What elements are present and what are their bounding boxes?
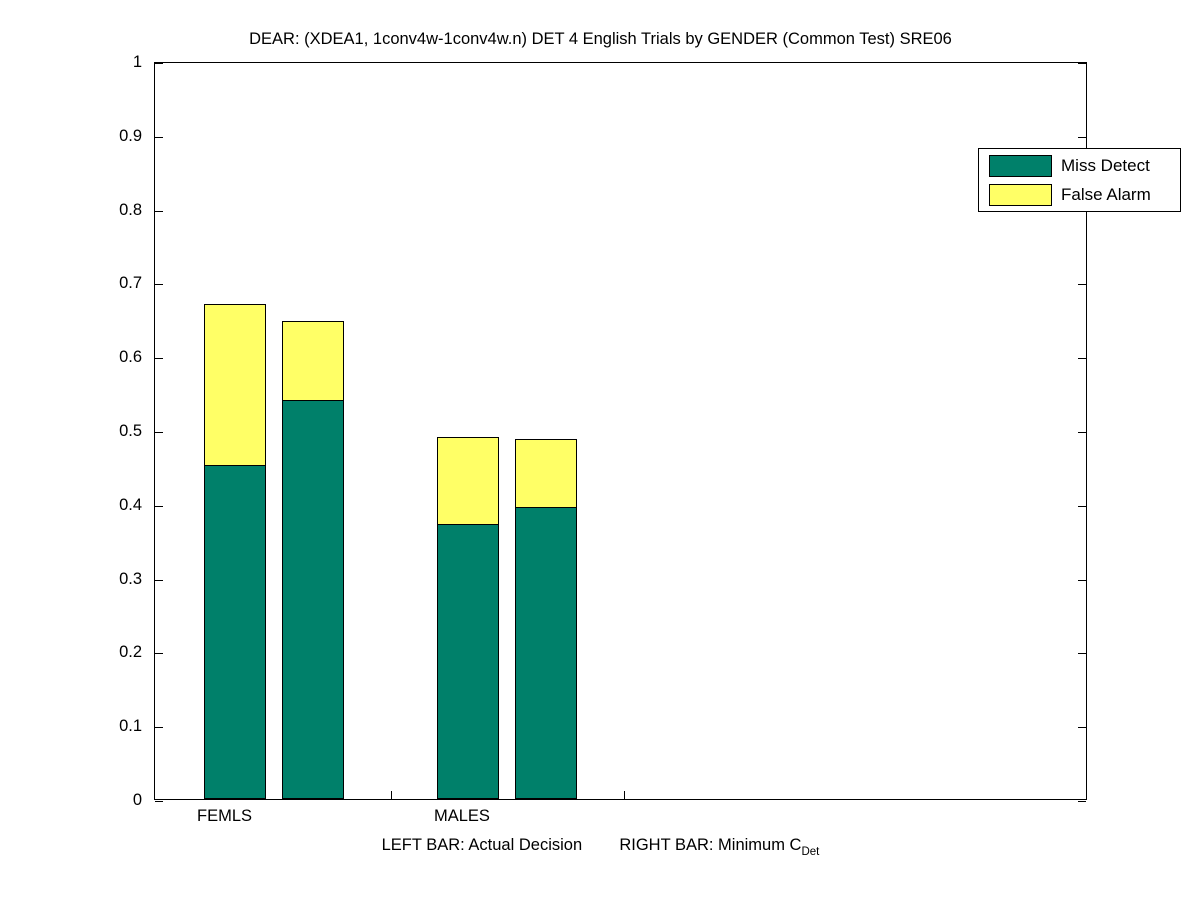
y-tick-1 — [155, 63, 163, 64]
y-tick-right-0.9 — [1078, 137, 1086, 138]
y-tick-label-0.1: 0.1 — [119, 718, 142, 734]
bar-segment-false-alarm[interactable] — [515, 439, 577, 508]
y-tick-right-0.6 — [1078, 358, 1086, 359]
y-tick-0.1 — [155, 727, 163, 728]
bar-segment-false-alarm[interactable] — [437, 437, 499, 524]
legend-label-false-alarm: False Alarm — [1061, 183, 1151, 206]
footer-left-bar-text: LEFT BAR: Actual Decision — [382, 836, 583, 854]
legend-swatch-false-alarm — [989, 184, 1052, 206]
y-tick-0.5 — [155, 432, 163, 433]
legend-label-miss-detect: Miss Detect — [1061, 154, 1150, 177]
legend-swatch-miss-detect — [989, 155, 1052, 177]
y-tick-0.8 — [155, 211, 163, 212]
y-tick-label-0.8: 0.8 — [119, 202, 142, 218]
plot-area: Miss Detect False Alarm — [154, 62, 1087, 800]
bar-segment-miss-detect[interactable] — [437, 523, 499, 799]
bar-segment-miss-detect[interactable] — [204, 465, 266, 799]
y-tick-0.2 — [155, 653, 163, 654]
y-tick-0.3 — [155, 580, 163, 581]
y-tick-label-0.5: 0.5 — [119, 423, 142, 439]
y-tick-0 — [155, 801, 163, 802]
y-tick-0.4 — [155, 506, 163, 507]
y-tick-right-0.1 — [1078, 727, 1086, 728]
y-tick-label-0.2: 0.2 — [119, 644, 142, 660]
y-tick-0.9 — [155, 137, 163, 138]
y-tick-right-0.5 — [1078, 432, 1086, 433]
y-tick-right-0.4 — [1078, 506, 1086, 507]
y-tick-label-0.7: 0.7 — [119, 275, 142, 291]
y-tick-right-1 — [1078, 63, 1086, 64]
y-tick-label-1: 1 — [133, 54, 142, 70]
y-tick-0.6 — [155, 358, 163, 359]
bar-femls-minimum[interactable] — [282, 321, 344, 799]
y-tick-right-0.2 — [1078, 653, 1086, 654]
bar-segment-false-alarm[interactable] — [282, 321, 344, 401]
y-tick-label-0.4: 0.4 — [119, 497, 142, 513]
y-tick-label-0.6: 0.6 — [119, 349, 142, 365]
legend: Miss Detect False Alarm — [978, 148, 1181, 212]
y-tick-right-0 — [1078, 801, 1086, 802]
legend-item-miss-detect[interactable]: Miss Detect — [979, 151, 1180, 180]
y-tick-0.7 — [155, 284, 163, 285]
bar-segment-miss-detect[interactable] — [282, 399, 344, 799]
bar-segment-false-alarm[interactable] — [204, 304, 266, 466]
x-tick-label-males: MALES — [434, 806, 490, 826]
x-tick-label-femls: FEMLS — [197, 806, 252, 826]
x-tick-0 — [391, 791, 392, 799]
figure-canvas: DEAR: (XDEA1, 1conv4w-1conv4w.n) DET 4 E… — [0, 0, 1201, 900]
footer-right-bar-text: RIGHT BAR: Minimum C — [619, 836, 801, 854]
x-axis-category-labels: FEMLSMALES — [0, 806, 1201, 832]
footer-right-bar-subscript: Det — [801, 846, 819, 858]
y-tick-right-0.7 — [1078, 284, 1086, 285]
footer-annotation: LEFT BAR: Actual Decision RIGHT BAR: Min… — [0, 836, 1201, 855]
bar-segment-miss-detect[interactable] — [515, 506, 577, 799]
x-tick-1 — [624, 791, 625, 799]
y-tick-label-0.3: 0.3 — [119, 571, 142, 587]
y-axis-tick-labels: 00.10.20.30.40.50.60.70.80.91 — [0, 0, 154, 900]
legend-item-false-alarm[interactable]: False Alarm — [979, 180, 1180, 209]
bar-males-minimum[interactable] — [515, 439, 577, 799]
y-tick-label-0.9: 0.9 — [119, 128, 142, 144]
bar-males-actual[interactable] — [437, 437, 499, 799]
y-tick-right-0.3 — [1078, 580, 1086, 581]
chart-title: DEAR: (XDEA1, 1conv4w-1conv4w.n) DET 4 E… — [0, 30, 1201, 49]
bar-femls-actual[interactable] — [204, 304, 266, 799]
